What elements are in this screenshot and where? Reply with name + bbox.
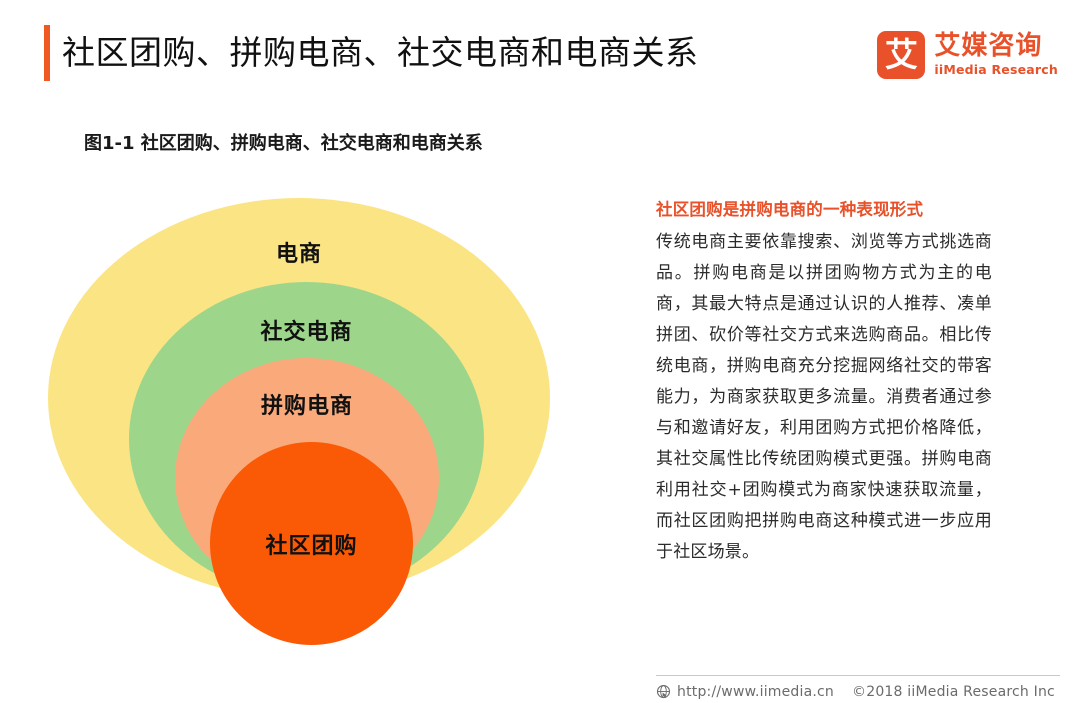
page-title: 社区团购、拼购电商、社交电商和电商关系 (62, 28, 699, 78)
page-footer: http://www.iimedia.cn ©2018 iiMedia Rese… (656, 681, 1076, 702)
globe-icon (656, 684, 671, 699)
logo-name-en: iiMedia Research (934, 64, 1058, 77)
page-header: 社区团购、拼购电商、社交电商和电商关系 艾 艾媒咨询 iiMedia Resea… (0, 0, 1080, 104)
venn-label-social-ecommerce: 社交电商 (129, 314, 484, 346)
footer-divider (656, 675, 1060, 676)
venn-label-ecommerce: 电商 (48, 236, 550, 268)
figure-caption: 图1-1 社区团购、拼购电商、社交电商和电商关系 (84, 129, 483, 155)
analysis-text-column: 社区团购是拼购电商的一种表现形式 传统电商主要依靠搜索、浏览等方式挑选商品。拼购… (656, 196, 992, 568)
brand-logo: 艾 艾媒咨询 iiMedia Research (877, 27, 1058, 83)
venn-label-group-buying-ecommerce: 拼购电商 (175, 388, 439, 420)
title-accent-bar (44, 25, 50, 81)
footer-copyright: ©2018 iiMedia Research Inc (852, 684, 1055, 700)
nested-venn-diagram: 电商 社交电商 拼购电商 社区团购 (20, 180, 620, 640)
venn-label-community-group-buying: 社区团购 (210, 528, 413, 560)
logo-mark-icon: 艾 (877, 31, 925, 79)
venn-circle-community-group-buying: 社区团购 (210, 442, 413, 645)
analysis-body: 传统电商主要依靠搜索、浏览等方式挑选商品。拼购电商是以拼团购物方式为主的电商，其… (656, 227, 992, 568)
logo-text: 艾媒咨询 iiMedia Research (934, 33, 1058, 77)
analysis-heading: 社区团购是拼购电商的一种表现形式 (656, 196, 992, 224)
footer-url[interactable]: http://www.iimedia.cn (677, 684, 834, 700)
logo-name-cn: 艾媒咨询 (934, 33, 1058, 59)
